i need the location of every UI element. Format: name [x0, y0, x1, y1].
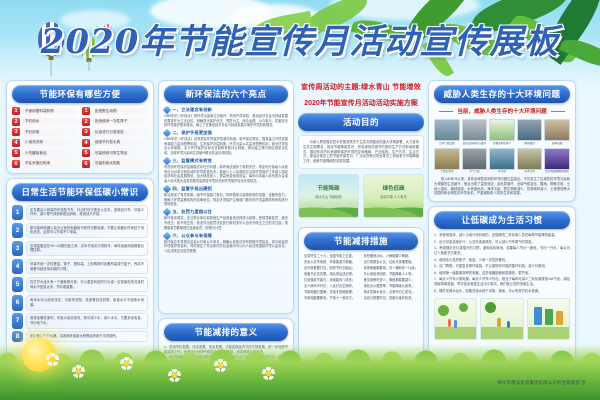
poster-title: 节能降碳	[299, 184, 358, 192]
law-highlight-title: 一、立法理念有创新	[173, 107, 213, 113]
item-number: 2	[82, 118, 90, 126]
photo-caption: 森林锐减	[544, 142, 570, 146]
law-highlight-body: 新环保法规定，企业事业单位和其他生产经营者违法排放污染物，受到罚款处罚，被责令改…	[164, 216, 288, 230]
list-item: 灯泡换成节能灯，用电能省八成多；	[304, 278, 359, 283]
photo-caption: 危险性废物越境转移	[544, 170, 570, 174]
list-item: 7、每天少开车少乘电梯，每天少开车少外出，相当于每年可减少二氧化碳排放162千克…	[434, 277, 570, 287]
list-item: 4尽量不用一次性餐盒、筷子、塑料袋，上街购物时自备布袋或竹篮子，养成不用餐巾纸改…	[12, 259, 148, 275]
item-text: 在打开水龙头有一个度就够分钟，可以重复利用的行为减一定量使用洗洗澡时间水不宜放太…	[26, 277, 148, 293]
recycle-bin-icon	[545, 309, 553, 325]
hill-decoration	[363, 205, 424, 218]
law-highlight-head: 四、监管手段出硬招	[164, 186, 288, 192]
tree-icon	[438, 305, 449, 316]
list-item: 1、多使用固体、减少土地分化利用的，还能降低二氧化碳人员在每种节能降低能量。	[434, 233, 570, 238]
photo-cell: 大气污染	[462, 148, 488, 175]
card-new-env-law: 新环保法的六个亮点 一、立法理念有创新 1989年的《环保法》把环境污染和生态破…	[158, 80, 294, 314]
photo-image	[434, 148, 460, 170]
item-text: 用排含磷洗涤剂，尽量大量洗涤剂，既可减少水，减少水污，又要多省电量，节约地下水。	[26, 313, 148, 329]
law-highlight-item: 五、处罚力度超以往 新环保法规定，企业事业单位和其他生产经营者违法排放污染物，受…	[164, 209, 288, 230]
cartoon-image	[527, 298, 570, 340]
section-header-daily-lowcarbon: 日常生活节能环保低碳小常识	[12, 183, 148, 201]
list-item: 3、养成随手关灯拔插头的习惯，避免待机耗电，如果每人节约一度电，节约一升水，每认…	[434, 246, 570, 256]
item-label: 不乱丢废旧电池	[22, 160, 78, 167]
column-third: 宣传周活动的主题:绿水青山 节能增效 2020年节能宣传月活动活动实施方案 活动…	[298, 80, 424, 380]
content-columns: 节能环保有哪些方便 1不使用塑料袋购物 2节约用水 3节约用电 4少用洗衣粉 5…	[0, 80, 600, 380]
diamond-bullet-icon	[163, 106, 171, 114]
section-header-ten-env-problems: 威胁人类生存的十大环境问题	[434, 85, 570, 103]
list-item: 2、出行尽量选择步行、公交车或者骑车，可以减少汽车尾气的排放。	[434, 240, 570, 245]
item-number: 6	[12, 160, 20, 168]
list-item: 1不使用塑料袋购物	[12, 107, 78, 115]
law-highlight-item: 二、保护手段更加强 1989年的《环保法》没有规定环境保护的基本制度。新环保法规…	[164, 130, 288, 155]
law-highlight-body: 新法增加了有关条款，赋予环保部门查封、扣押造成污染物排放的设施、设备的权力，明确…	[164, 193, 288, 207]
item-number: 7	[12, 313, 23, 329]
photo-cell: 水污染	[489, 148, 515, 175]
photo-cell: 酸雨蔓延	[517, 119, 543, 146]
page-title: 2020年节能宣传月活动宣传展板	[0, 14, 600, 63]
ten-env-body: 进入80年代以来，具有全球性影响的环境问题日益突出。不仅发生了区域性的环境污染和…	[434, 177, 570, 196]
list-item: 8、随手关掉水龙头，收集洗涤水用于冲厕、拖地，可以有效节约水资源。	[434, 289, 570, 294]
item-number: 3	[82, 128, 90, 136]
photo-caption: 水污染	[489, 170, 515, 174]
card-energy-convenience: 节能环保有哪些方便 1不使用塑料袋购物 2节约用水 3节约用电 4少用洗衣粉 5…	[6, 80, 154, 174]
list-item: 电脑不必总亮屏，用后用后还记得；	[304, 272, 359, 277]
item-label: 尽量使用可再生物品	[92, 150, 148, 157]
poster-title: 绿色低碳	[364, 184, 423, 192]
list-item: 4、使用永久性的筷子、饭盒、少用一次性的餐具。	[434, 258, 570, 263]
law-highlight-head: 一、立法理念有创新	[164, 107, 288, 113]
photo-image	[489, 119, 515, 141]
item-label: 垃圾进行分类投放	[92, 129, 148, 136]
section-header-energy-convenience: 节能环保有哪些方便	[12, 85, 148, 103]
list-item: 4使用节约型水具	[82, 139, 148, 147]
law-highlight-head: 六、公众参与有保障	[164, 233, 288, 239]
daisy-flower-icon	[72, 365, 85, 378]
item-number: 3	[12, 241, 23, 257]
list-item: 食堂用餐吃多少，剩饭剩菜要减少；	[364, 278, 419, 283]
photo-caption: 土地荒漠化	[434, 170, 460, 174]
law-highlight-title: 二、保护手段更加强	[173, 130, 213, 136]
item-number: 5	[82, 149, 90, 157]
item-number: 6	[12, 295, 23, 311]
item-label: 少吃罐装食品	[22, 150, 78, 157]
list-item: 6淘米水可以用来浇花，可用来洗瓶、洗涤餐具洗具等，既省水又不浪费水资源。	[12, 295, 148, 311]
list-item: 节能电器万国牌，省电才是硬道理；	[304, 290, 359, 295]
law-highlight-item: 三、监管模式有转变 考虑到环境保护监管模式存在的问题，新环保法强化了政府责任，规…	[164, 158, 288, 183]
daisy-flower-icon	[120, 357, 133, 370]
pill-column-right: 1拒绝野生动物 2拒绝使用一次性筷子 3垃圾进行分类投放 4使用节约型水具 5尽…	[82, 107, 148, 168]
photo-caption: 酸雨蔓延	[517, 142, 543, 146]
daisy-flower-icon	[46, 353, 59, 366]
item-number: 3	[12, 128, 20, 136]
footer-signature: 郑州市建设投资集团有限公司综合管理部 宣	[497, 380, 586, 386]
list-item: 5、出门购物、可重复自带环保袋，不让废物尽可能的循环利用，减少分类用。	[434, 264, 570, 269]
poster-subtitle: 全民节能 人人有责	[364, 194, 423, 199]
scheme-line: 2020年节能宣传月活动活动实施方案	[298, 98, 424, 108]
section-header-measures: 节能减排措施	[304, 232, 418, 250]
list-item: 绿色办公做表率，节能降碳从我来；	[364, 284, 419, 289]
diamond-bullet-icon	[163, 231, 171, 239]
person-figure-icon	[454, 320, 457, 328]
law-highlight-title: 六、公众参与有保障	[173, 233, 213, 239]
person-figure-icon	[507, 321, 510, 328]
pill-column-left: 1不使用塑料袋购物 2节约用水 3节约用电 4少用洗衣粉 5少吃罐装食品 6不乱…	[12, 107, 78, 168]
list-item: 2拒绝使用一次性筷子	[82, 118, 148, 126]
grass-footer	[0, 344, 600, 400]
list-item: 多坐公交车地铁，环保能源又便捷；	[304, 260, 359, 265]
law-highlight-head: 五、处罚力度超以往	[164, 209, 288, 215]
hill-decoration	[298, 205, 359, 218]
photo-image	[462, 119, 488, 141]
law-highlight-item: 一、立法理念有创新 1989年的《环保法》把环境污染和生态破坏、防范环境风险、推…	[164, 107, 288, 128]
list-item: 1拒绝野生动物	[82, 107, 148, 115]
item-text: 家中各种电器以及办公室的电器用不着时切断电源，不要让电器长时间处于待机状态，这样…	[26, 223, 148, 239]
card-theme: 宣传周活动的主题:绿水青山 节能增效 2020年节能宣传月活动活动实施方案 活动…	[298, 80, 424, 223]
poster-board: 2020年节能宣传月活动宣传展板 节能环保有哪些方便 1不使用塑料袋购物 2节约…	[0, 0, 600, 400]
photo-cell: 臭氧层的耗损与破坏	[462, 119, 488, 146]
column-second: 新环保法的六个亮点 一、立法理念有创新 1989年的《环保法》把环境污染和生态破…	[158, 80, 294, 380]
item-number: 1	[82, 107, 90, 115]
list-item: 不用电脑要断电，节电十一就靠它；	[304, 296, 359, 301]
item-number: 4	[12, 139, 20, 147]
photo-cell: 海洋污染	[517, 148, 543, 175]
item-text: 买车要买小排量的环保型汽车，外出时尽行乘坐公交车，或骑自行车，尽量少开车，减少尾…	[26, 205, 148, 221]
column-right: 威胁人类生存的十大环境问题 当前，威胁人类生存的十大环境问题 全球气候变暖 臭氧…	[428, 80, 576, 380]
photo-caption: 臭氧层的耗损与破坏	[462, 142, 488, 146]
law-highlight-body: 1989年的《环保法》没有规定环境保护的基本制度。新环保法规定，国家建立环境资源…	[164, 137, 288, 155]
law-highlight-head: 三、监管模式有转变	[164, 158, 288, 164]
cartoon-image	[434, 298, 477, 340]
list-item: 3垃圾进行分类投放	[82, 128, 148, 136]
item-number: 6	[82, 160, 90, 168]
photo-cell: 土地荒漠化	[434, 148, 460, 175]
list-item: 4少用洗衣粉	[12, 139, 78, 147]
list-item: 2家中各种电器以及办公室的电器用不着时切断电源，不要让电器长时间处于待机状态，这…	[12, 223, 148, 239]
list-item: 5在打开水龙头有一个度就够分钟，可以重复利用的行为减一定量使用洗洗澡时间水不宜放…	[12, 277, 148, 293]
item-number: 4	[12, 259, 23, 275]
list-item: 空调开至二十六，全国节电上亿度；	[304, 254, 359, 259]
cartoon-image	[480, 298, 523, 340]
item-label: 节约用水	[22, 118, 78, 125]
item-label: 尽量利用太阳能	[92, 160, 148, 167]
item-number: 1	[12, 205, 23, 221]
photo-image	[462, 148, 488, 170]
poster-images: 节能降碳 绿水青山 节能增效 绿色低碳 全民节能 人人有责	[298, 174, 424, 218]
measures-list: 空调开至二十六，全国节电上亿度； 多坐公交车地铁，环保能源又便捷； 出外就餐要打…	[304, 254, 418, 302]
list-item: 出行常乘坐公交，垃圾分类桶里抛；	[364, 260, 419, 265]
law-highlight-item: 四、监管手段出硬招 新法增加了有关条款，赋予环保部门查封、扣押造成污染物排放的设…	[164, 186, 288, 207]
poster-image: 绿色低碳 全民节能 人人有责	[363, 174, 424, 218]
item-label: 节约用电	[22, 129, 78, 136]
item-text: 淘米水可以用来浇花，可用来洗瓶、洗涤餐具洗具等，既省水又不浪费水资源。	[26, 295, 148, 311]
list-item: 随手关掉水龙头，点滴节约汇成流；	[364, 290, 419, 295]
list-item: 办公用品多回收，节能降耗人人有；	[364, 272, 419, 277]
law-highlight-body: 新环保法专章规定信息公开和公众参与，明确公民依法享有获取环境信息、参与和监督环境…	[164, 240, 288, 254]
list-item: 7用排含磷洗涤剂，尽量大量洗涤剂，既可减少水，减少水污，又要多省电量，节约地下水…	[12, 313, 148, 329]
item-number: 4	[82, 139, 90, 147]
photo-caption: 大气污染	[462, 170, 488, 174]
item-number: 2	[12, 223, 23, 239]
law-highlight-title: 四、监管手段出硬招	[173, 186, 213, 192]
numbered-list: 1买车要买小排量的环保型汽车，外出时尽行乘坐公交车，或骑自行车，尽量少开车，减少…	[12, 205, 148, 342]
column-left: 节能环保有哪些方便 1不使用塑料袋购物 2节约用水 3节约用电 4少用洗衣粉 5…	[6, 80, 154, 380]
item-number: 2	[12, 118, 20, 126]
list-item: 1买车要买小排量的环保型汽车，外出时尽行乘坐公交车，或骑自行车，尽量少开车，减少…	[12, 205, 148, 221]
photo-image	[517, 148, 543, 170]
item-number: 5	[12, 277, 23, 293]
item-number: 1	[12, 107, 20, 115]
photo-cell: 森林锐减	[544, 119, 570, 146]
recycle-bin-icon	[534, 307, 542, 325]
list-item: 6不乱丢废旧电池	[12, 160, 78, 168]
tree-icon	[485, 302, 496, 313]
tree-icon	[459, 303, 468, 312]
photo-cell: 全球气候变暖	[434, 119, 460, 146]
law-highlight-body: 1989年的《环保法》把环境污染和生态破坏、防范环境风险、推动经济社会可持续发展…	[164, 114, 288, 128]
ten-env-subtitle: 当前，威胁人类生存的十大环境问题	[434, 107, 570, 115]
activity-purpose-box: 为深入贯彻落实党中央国务院关于生态文明建设的重大决策部署，大力宣传生态文明理念，…	[298, 135, 424, 169]
list-item: 3节约用电	[12, 128, 78, 136]
section-header-lowcarbon-habit: 让低碳成为生活习惯	[434, 211, 570, 229]
list-item: 多些随地冲水，少刷碗要少刷碗；	[364, 254, 419, 259]
item-label: 不使用塑料袋购物	[22, 108, 78, 115]
person-figure-icon	[448, 319, 451, 327]
list-item: 2节约用水	[12, 118, 78, 126]
item-label: 少用洗衣粉	[22, 139, 78, 146]
list-item: 无人房间不开灯，人走灯灭空调停；	[304, 284, 359, 289]
poster-image: 节能降碳 绿水青山 节能增效	[298, 174, 359, 218]
cyclist-figure-icon	[497, 318, 501, 327]
photo-image	[434, 119, 460, 141]
list-item: 纸张两面都要用，省一棵树多一片绿；	[364, 266, 419, 271]
law-highlight-head: 二、保护手段更加强	[164, 130, 288, 136]
photo-cell: 生物多样性减少	[489, 119, 515, 146]
law-highlight-body: 考虑到环境保护监管模式存在的问题，新环保法强化了政府责任，规定地方各级人民政府应…	[164, 165, 288, 183]
photo-image	[544, 119, 570, 141]
photo-image	[517, 119, 543, 141]
daisy-flower-icon	[214, 359, 227, 372]
daisy-flower-icon	[168, 369, 181, 382]
photo-cell: 危险性废物越境转移	[544, 148, 570, 175]
law-highlight-item: 六、公众参与有保障 新环保法专章规定信息公开和公众参与，明确公民依法享有获取环境…	[164, 233, 288, 254]
photo-grid: 全球气候变暖 臭氧层的耗损与破坏 生物多样性减少 酸雨蔓延 森林锐减 土地荒漠化…	[434, 119, 570, 174]
list-item: 3空调温度定在26～28摄氏度之间，买车尽量买中低档车，每吨油使用量都要合理控制…	[12, 241, 148, 257]
recycle-bin-icon	[556, 311, 563, 325]
lowcarbon-habit-list: 1、多使用固体、减少土地分化利用的，还能降低二氧化碳人员在每种节能降低能量。 2…	[434, 233, 570, 294]
list-item: 5少吃罐装食品	[12, 149, 78, 157]
item-text: 尽量不用一次性餐盒、筷子、塑料袋，上街购物时自备布袋或竹篮子，养成不用餐巾纸改用…	[26, 259, 148, 275]
item-number: 5	[12, 149, 20, 157]
theme-line: 宣传周活动的主题:绿水青山 节能增效	[298, 82, 424, 92]
daisy-flower-icon	[262, 367, 275, 380]
item-label: 拒绝使用一次性筷子	[92, 118, 148, 125]
list-item: 出外就餐要打包，别把节约忘脑后；	[304, 266, 359, 271]
photo-caption: 全球气候变暖	[434, 142, 460, 146]
law-highlight-title: 三、监管模式有转变	[173, 158, 213, 164]
law-highlight-title: 五、处罚力度超以往	[173, 209, 213, 215]
item-text: 空调温度定在26～28摄氏度之间，买车尽量买中低档车，每吨油使用量都要合理控制。	[26, 241, 148, 257]
photo-image	[489, 148, 515, 170]
photo-caption: 生物多样性减少	[489, 142, 515, 146]
diamond-bullet-icon	[163, 185, 171, 193]
activity-purpose-body: 为深入贯彻落实党中央国务院关于生态文明建设的重大决策部署，大力宣传生态文明理念，…	[303, 140, 419, 164]
list-item: 6尽量利用太阳能	[82, 160, 148, 168]
section-header-activity-purpose: 活动目的	[298, 113, 424, 131]
list-item: 垃圾分类要牢记，变废为宝好处多。	[364, 296, 419, 301]
poster-subtitle: 绿水青山 节能增效	[299, 194, 358, 199]
section-header-new-env-law: 新环保法的六个亮点	[164, 85, 288, 103]
cartoon-illustrations	[434, 298, 570, 340]
card-ten-env-problems: 威胁人类生存的十大环境问题 当前，威胁人类生存的十大环境问题 全球气候变暖 臭氧…	[428, 80, 576, 202]
list-item: 5尽量使用可再生物品	[82, 149, 148, 157]
photo-caption: 海洋污染	[517, 170, 543, 174]
pill-grid: 1不使用塑料袋购物 2节约用水 3节约用电 4少用洗衣粉 5少吃罐装食品 6不乱…	[12, 107, 148, 168]
list-item: 6、使用第一级能源效率的电器，这些电器能耗和能源低，更节电。	[434, 271, 570, 276]
photo-image	[544, 148, 570, 170]
item-label: 拒绝野生动物	[92, 108, 148, 115]
item-label: 使用节约型水具	[92, 139, 148, 146]
